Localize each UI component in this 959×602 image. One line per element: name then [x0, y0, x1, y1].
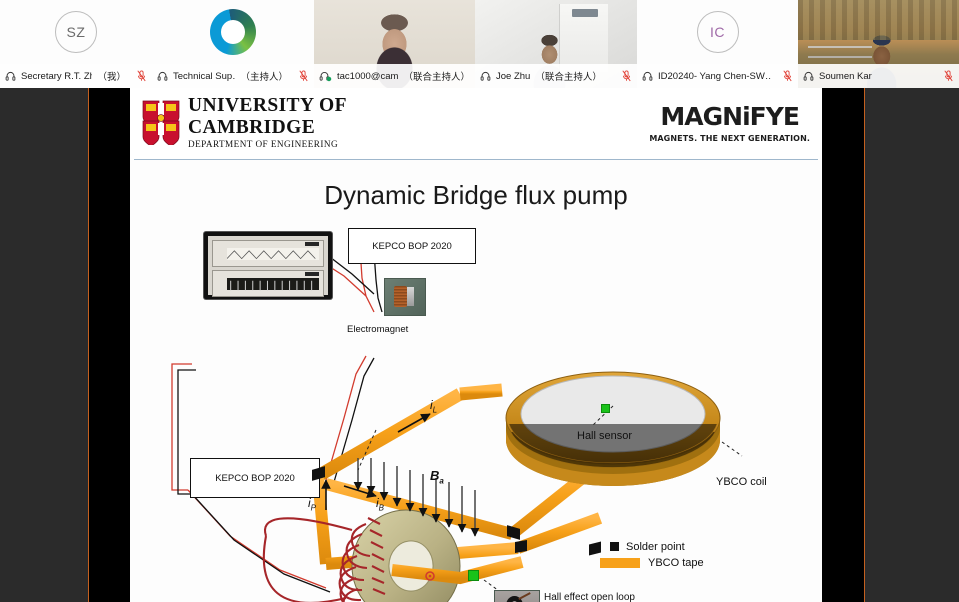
participant-name: Secretary R.T. Zha… [21, 71, 92, 82]
hall-sensor-chip [601, 404, 610, 413]
plot-area [227, 278, 319, 290]
electromagnet-label: Electromagnet [347, 324, 408, 335]
current-sensor-photo [494, 590, 540, 602]
current-sensor-label-line1: Hall effect open loop [544, 592, 635, 602]
avatar-backdrop [152, 0, 314, 64]
legend-label-tape: YBCO tape [648, 557, 704, 569]
participant-name: Soumen Kar [819, 71, 872, 82]
participant-filmstrip: SZ Secretary R.T. Zha… （我） [0, 0, 959, 88]
mic-muted-icon[interactable] [298, 70, 309, 82]
slide-header: UNIVERSITY OF CAMBRIDGE DEPARTMENT OF EN… [130, 88, 822, 160]
kepco-bottom-label: KEPCO BOP 2020 [215, 473, 295, 484]
scope-plot-triangular [212, 240, 324, 267]
participant-name: ID20240- Yang Chen-SW… [658, 71, 772, 82]
participant-namebar: Secretary R.T. Zha… （我） [0, 64, 152, 88]
participant-tile-4[interactable]: IC ID20240- Yang Chen-SW… [637, 0, 798, 88]
frame-divider-right [864, 88, 865, 602]
avatar: SZ [55, 11, 97, 53]
participant-role: （我） [97, 69, 126, 83]
current-ip-symbol: iP [308, 496, 316, 512]
avatar-backdrop: IC [637, 0, 798, 64]
applied-field-symbol: Ba [430, 468, 444, 486]
university-line-2: CAMBRIDGE [188, 118, 347, 138]
headset-icon [157, 71, 168, 82]
mic-muted-icon[interactable] [136, 70, 147, 82]
kepco-top-label: KEPCO BOP 2020 [372, 241, 452, 252]
background-building [798, 0, 959, 40]
mic-muted-icon[interactable] [621, 70, 632, 82]
sponsor-tagline: MAGNETS. THE NEXT GENERATION. [649, 134, 810, 143]
slide-title: Dynamic Bridge flux pump [130, 180, 822, 211]
participant-tile-2[interactable]: tac1000@cam… （联合主持人） [314, 0, 475, 88]
participant-role: （联合主持人） [403, 69, 470, 83]
participant-namebar: Technical Sup… （主持人） [152, 64, 314, 88]
current-ib-symbol: iB [376, 496, 384, 512]
cambridge-crest-icon [142, 99, 180, 145]
avatar-backdrop: SZ [0, 0, 152, 64]
university-department: DEPARTMENT OF ENGINEERING [188, 140, 347, 149]
participant-role: （主持人） [240, 69, 288, 83]
participant-role: （联合主持人） [535, 69, 602, 83]
letterbox-right [822, 88, 864, 602]
letterbox-left [89, 88, 130, 602]
zoom-meeting-window: SZ Secretary R.T. Zha… （我） [0, 0, 959, 602]
ybco-coil-label: YBCO coil [716, 476, 767, 488]
sponsor-logo: MAGNiFYE MAGNETS. THE NEXT GENERATION. [649, 102, 810, 143]
participant-namebar: tac1000@cam… （联合主持人） [314, 64, 475, 88]
participant-namebar: ID20240- Yang Chen-SW… [637, 64, 798, 88]
participant-tile-0[interactable]: SZ Secretary R.T. Zha… （我） [0, 0, 152, 88]
participant-namebar: Joe Zhu （联合主持人） [475, 64, 637, 88]
headset-icon [642, 71, 653, 82]
kepco-bottom-box: KEPCO BOP 2020 [190, 458, 320, 498]
current-il-symbol: iL [430, 398, 437, 414]
electromagnet-photo [384, 278, 426, 316]
shared-screen-stage: UNIVERSITY OF CAMBRIDGE DEPARTMENT OF EN… [0, 88, 959, 602]
sponsor-name: MAGNiFYE [649, 102, 810, 131]
diagram-canvas: KEPCO BOP 2020 KEPCO BOP 2020 Electromag… [130, 218, 822, 602]
participant-tile-1[interactable]: Technical Sup… （主持人） [152, 0, 314, 88]
participant-name: Technical Sup… [173, 71, 235, 82]
scope-button-icon [305, 242, 319, 246]
avatar: IC [697, 11, 739, 53]
mic-muted-icon[interactable] [782, 70, 793, 82]
headset-icon [803, 71, 814, 82]
participant-tile-5[interactable]: Soumen Kar [798, 0, 959, 88]
university-wordmark: UNIVERSITY OF CAMBRIDGE DEPARTMENT OF EN… [188, 96, 347, 149]
kepco-top-box: KEPCO BOP 2020 [348, 228, 476, 264]
scope-button-icon [305, 272, 319, 276]
presentation-slide: UNIVERSITY OF CAMBRIDGE DEPARTMENT OF EN… [130, 88, 822, 602]
legend-marker-solder [610, 542, 619, 551]
legend-label-solder: Solder point [626, 541, 685, 553]
solder-point [515, 540, 527, 553]
scope-plot-pulse [212, 270, 324, 297]
current-sensor-chip [468, 570, 479, 581]
oscilloscope-monitor [204, 232, 332, 299]
ybco-coil [506, 372, 720, 486]
hall-sensor-label: Hall sensor [577, 430, 632, 442]
plot-area [227, 248, 319, 260]
participant-tile-3[interactable]: Joe Zhu （联合主持人） [475, 0, 637, 88]
mic-muted-icon[interactable] [943, 70, 954, 82]
headset-icon [480, 71, 491, 82]
headset-active-icon [319, 71, 332, 82]
legend-marker-tape [600, 558, 640, 568]
participant-name: tac1000@cam… [337, 71, 398, 82]
participant-namebar: Soumen Kar [798, 64, 959, 88]
background-plaque [572, 9, 598, 17]
participant-name: Joe Zhu [496, 71, 530, 82]
zoom-logo-icon [210, 9, 256, 55]
headset-icon [5, 71, 16, 82]
university-line-1: UNIVERSITY OF [188, 96, 347, 116]
background-railing [808, 46, 872, 58]
